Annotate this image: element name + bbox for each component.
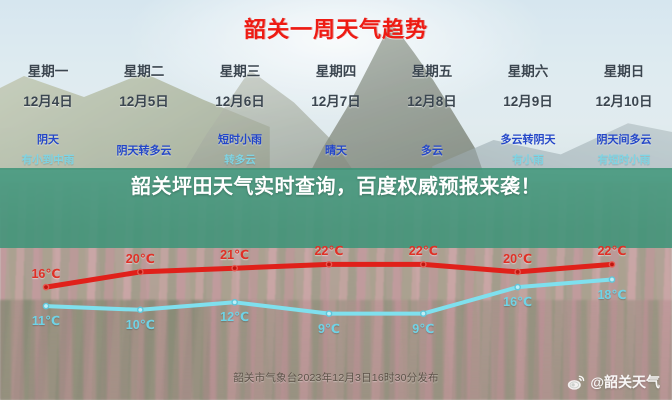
headline-text: 韶关坪田天气实时查询，百度权威预报来袭！ [0,172,672,202]
high-temp-point [138,269,143,274]
condition-secondary: 有小到中雨 [0,152,96,167]
low-temp-point [232,300,237,305]
condition-primary: 短时小雨 [192,131,288,147]
high-temp-point [421,262,426,267]
high-temp-label: 20℃ [126,251,155,266]
condition-primary: 多云转阴天 [480,131,576,147]
date-label: 12月5日 [96,90,192,110]
condition-primary: 阴天间多云 [576,131,672,147]
weibo-icon [566,373,585,392]
date-label: 12月4日 [0,90,96,110]
condition-secondary: 转多云 [192,152,288,167]
high-temp-point [43,285,48,290]
low-temp-point [138,307,143,312]
forecast-day-column: 星期二 12月5日 阴天转多云 [96,60,192,180]
forecast-day-column: 星期三 12月6日 短时小雨 转多云 [192,60,288,180]
temperature-chart: 16℃20℃21℃22℃22℃20℃22℃11℃10℃12℃9℃9℃16℃18℃ [0,225,672,345]
forecast-day-column: 星期四 12月7日 晴天 [288,60,384,180]
forecast-day-column: 星期一 12月4日 阴天 有小到中雨 [0,60,96,180]
high-temp-point [232,266,237,271]
weekday-label: 星期二 [96,60,192,80]
weekday-label: 星期五 [384,60,480,80]
condition-primary: 阴天转多云 [96,142,192,158]
low-temp-label: 12℃ [220,309,249,324]
weekday-label: 星期三 [192,60,288,80]
watermark: @韶关天气 [566,372,660,392]
low-temp-point [515,285,520,290]
low-temp-label: 11℃ [32,313,60,328]
low-temp-label: 9℃ [318,321,340,336]
date-label: 12月9日 [480,90,576,110]
date-label: 12月8日 [384,90,480,110]
weekday-label: 星期日 [576,60,672,80]
high-temp-label: 21℃ [220,247,249,262]
low-temp-label: 9℃ [412,321,434,336]
low-temp-point [421,311,426,316]
condition-primary: 多云 [384,142,480,158]
weekday-label: 星期四 [288,60,384,80]
high-temp-label: 22℃ [314,243,343,258]
forecast-day-column: 星期六 12月9日 多云转阴天 有小雨 [480,60,576,180]
weather-infographic: 韶关一周天气趋势 星期一 12月4日 阴天 有小到中雨 星期二 12月5日 阴天… [0,0,672,400]
condition-secondary: 有短时小雨 [576,152,672,167]
page-title: 韶关一周天气趋势 [0,12,672,44]
high-temp-label: 22℃ [597,243,626,258]
forecast-day-columns: 星期一 12月4日 阴天 有小到中雨 星期二 12月5日 阴天转多云 星期三 1… [0,60,672,180]
low-temp-label: 18℃ [597,287,626,302]
condition-secondary: 有小雨 [480,152,576,167]
forecast-day-column: 星期五 12月8日 多云 [384,60,480,180]
low-temp-label: 10℃ [126,317,155,332]
high-temp-point [609,262,614,267]
weekday-label: 星期一 [0,60,96,80]
low-temp-label: 16℃ [503,294,532,309]
watermark-handle: @韶关天气 [590,372,660,392]
low-temp-point [609,277,614,282]
high-temp-label: 16℃ [31,266,60,281]
date-label: 12月6日 [192,90,288,110]
date-label: 12月10日 [576,90,672,110]
high-temp-label: 22℃ [409,243,438,258]
high-temp-label: 20℃ [503,251,532,266]
condition-primary: 晴天 [288,142,384,158]
condition-primary: 阴天 [0,131,96,147]
date-label: 12月7日 [288,90,384,110]
high-temp-line [46,264,612,287]
low-temp-point [43,303,48,308]
low-temp-point [326,311,331,316]
forecast-day-column: 星期日 12月10日 阴天间多云 有短时小雨 [576,60,672,180]
weekday-label: 星期六 [480,60,576,80]
high-temp-point [515,269,520,274]
high-temp-point [326,262,331,267]
